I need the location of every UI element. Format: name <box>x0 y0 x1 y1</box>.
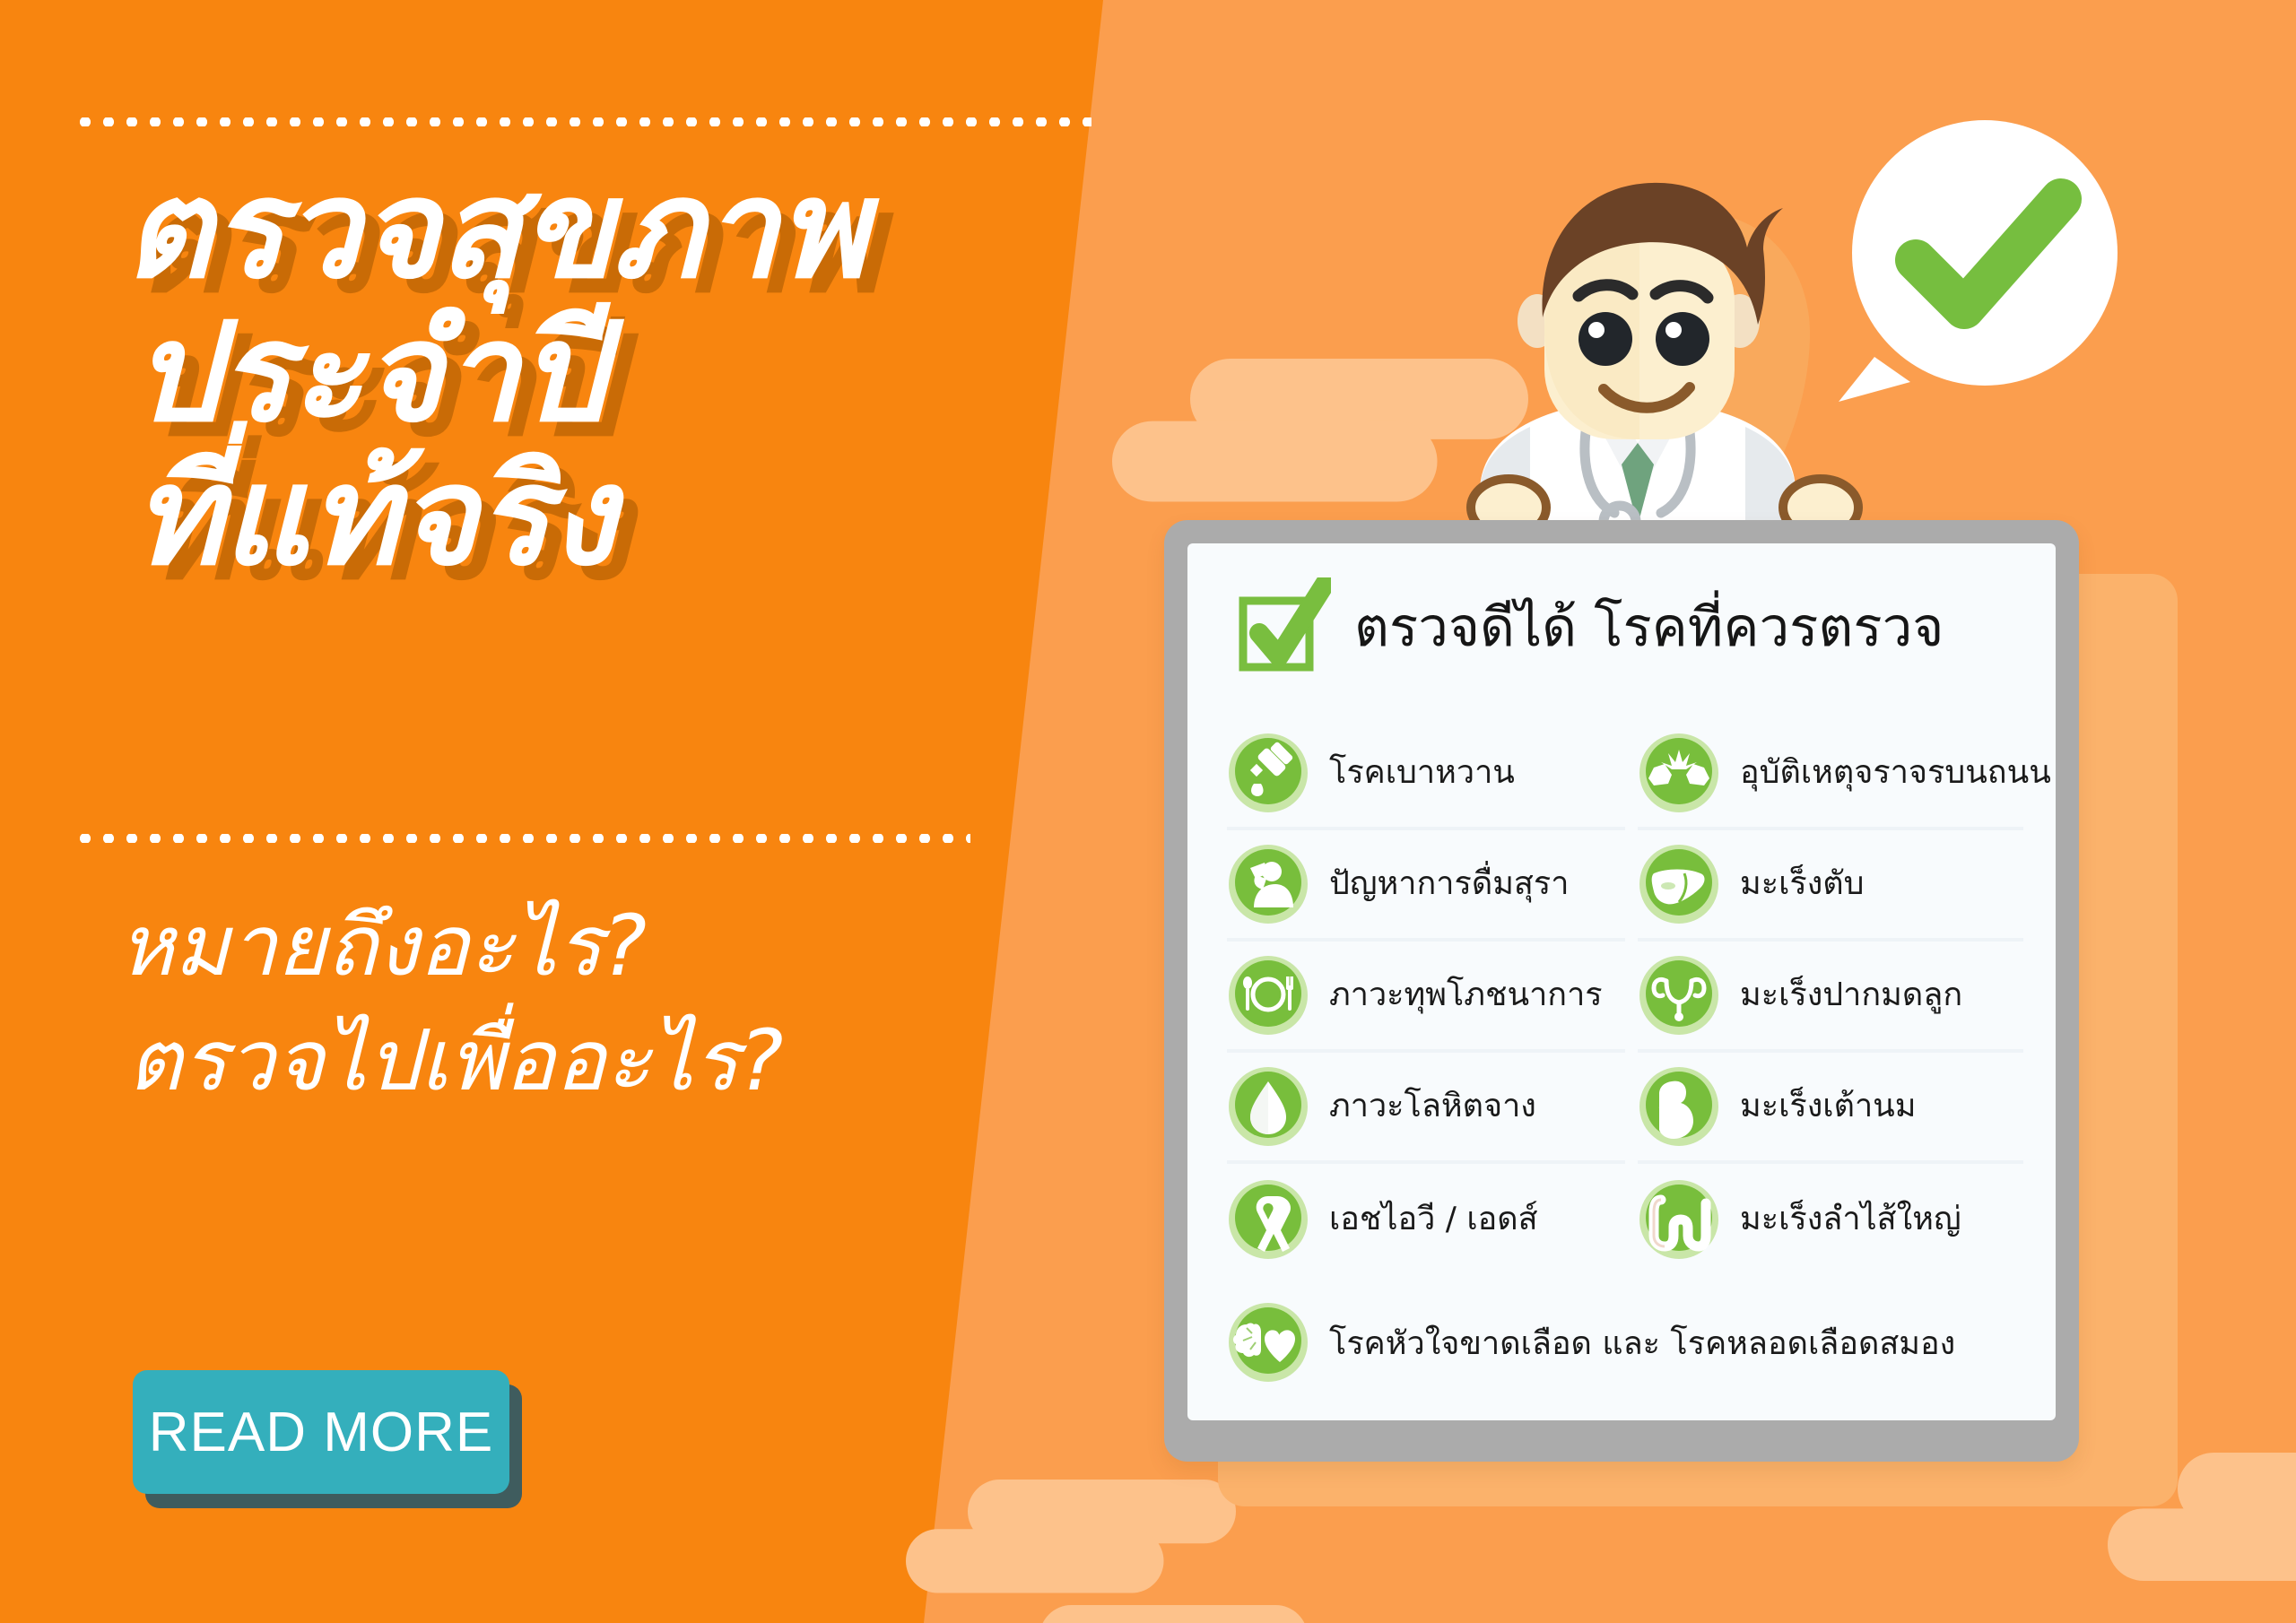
liver-icon <box>1638 843 1720 925</box>
blood-drop-icon <box>1227 1065 1309 1148</box>
colon-intestine-icon <box>1638 1178 1720 1261</box>
card-title: ตรวจดีได้ โรคที่ควรตรวจ <box>1354 585 1944 670</box>
list-item[interactable]: มะเร็งตับ <box>1638 830 2023 942</box>
list-item[interactable]: ภาวะโลหิตจาง <box>1227 1053 1625 1164</box>
list-item-label: ภาวะโลหิตจาง <box>1329 1089 1536 1124</box>
headline-block: ตรวจสุขภาพ ประจำปี ที่แท้จริง <box>108 166 1094 580</box>
doctor-figure <box>1444 160 1874 545</box>
list-item-full-width[interactable]: โรคหัวใจขาดเลือด และ โรคหลอดเลือดสมอง <box>1227 1286 2023 1399</box>
plate-cutlery-icon <box>1227 954 1309 1037</box>
list-item-label: เอชไอวี / เอดส์ <box>1329 1202 1538 1237</box>
list-item[interactable]: โรคเบาหวาน <box>1227 719 1625 830</box>
drinking-person-icon <box>1227 843 1309 925</box>
checkbox-checked-icon <box>1232 577 1331 676</box>
checklist-body: โรคเบาหวาน <box>1227 719 2023 1399</box>
list-item-label: มะเร็งเต้านม <box>1740 1089 1917 1124</box>
subheadline-block: หมายถึงอะไร? ตรวจไปเพื่ออะไร? <box>118 897 1069 1112</box>
list-item[interactable]: มะเร็งลำไส้ใหญ่ <box>1638 1164 2023 1275</box>
list-item[interactable]: มะเร็งเต้านม <box>1638 1053 2023 1164</box>
list-item-label: ปัญหาการดื่มสุรา <box>1329 866 1569 902</box>
card-header: ตรวจดีได้ โรคที่ควรตรวจ <box>1232 577 1944 676</box>
breast-icon <box>1638 1065 1720 1148</box>
list-item[interactable]: มะเร็งปากมดลูก <box>1638 942 2023 1053</box>
checklist-card: ตรวจดีได้ โรคที่ควรตรวจ <box>1164 520 2079 1462</box>
list-item-label: มะเร็งตับ <box>1740 866 1865 902</box>
list-item-label: โรคเบาหวาน <box>1329 755 1515 791</box>
brain-heart-icon <box>1227 1301 1309 1384</box>
checklist-left-column: โรคเบาหวาน <box>1227 719 1625 1275</box>
list-item[interactable]: ปัญหาการดื่มสุรา <box>1227 830 1625 942</box>
checklist-right-column: อุบัติเหตุจราจรบนถนน <box>1638 719 2023 1275</box>
list-item-label: โรคหัวใจขาดเลือด และ โรคหลอดเลือดสมอง <box>1329 1317 1955 1368</box>
banner-root: ตรวจสุขภาพ ประจำปี ที่แท้จริง หมายถึงอะไ… <box>0 0 2296 1623</box>
syringe-icon <box>1227 732 1309 814</box>
dotted-divider-top <box>74 117 1091 126</box>
subheadline-line-2: ตรวจไปเพื่ออะไร? <box>127 1011 1069 1112</box>
headline-line-1: ตรวจสุขภาพ <box>124 166 1094 293</box>
awareness-ribbon-icon <box>1227 1178 1309 1261</box>
read-more-label: READ MORE <box>149 1401 493 1464</box>
headline-line-3: ที่แท้จริง <box>133 453 1094 580</box>
headline-line-2: ประจำปี <box>133 309 1094 437</box>
list-item[interactable]: อุบัติเหตุจราจรบนถนน <box>1638 719 2023 830</box>
list-item[interactable]: ภาวะทุพโภชนาการ <box>1227 942 1625 1053</box>
subheadline-line-1: หมายถึงอะไร? <box>118 897 1069 997</box>
car-crash-icon <box>1638 732 1720 814</box>
cartoon-doctor-illustration <box>1444 160 1874 545</box>
list-item[interactable]: เอชไอวี / เอดส์ <box>1227 1164 1625 1275</box>
list-item-label: อุบัติเหตุจราจรบนถนน <box>1740 755 2051 791</box>
checklist-columns: โรคเบาหวาน <box>1227 719 2023 1275</box>
dotted-divider-middle <box>74 834 970 843</box>
read-more-button-wrapper: READ MORE <box>133 1370 509 1494</box>
list-item-label: มะเร็งลำไส้ใหญ่ <box>1740 1202 1961 1237</box>
left-content-column: ตรวจสุขภาพ ประจำปี ที่แท้จริง หมายถึงอะไ… <box>0 0 1076 1623</box>
list-item-label: มะเร็งปากมดลูก <box>1740 977 1962 1013</box>
uterus-icon <box>1638 954 1720 1037</box>
checklist-card-surface: ตรวจดีได้ โรคที่ควรตรวจ <box>1187 543 2056 1420</box>
list-item-label: ภาวะทุพโภชนาการ <box>1329 977 1603 1013</box>
read-more-button[interactable]: READ MORE <box>133 1370 509 1494</box>
